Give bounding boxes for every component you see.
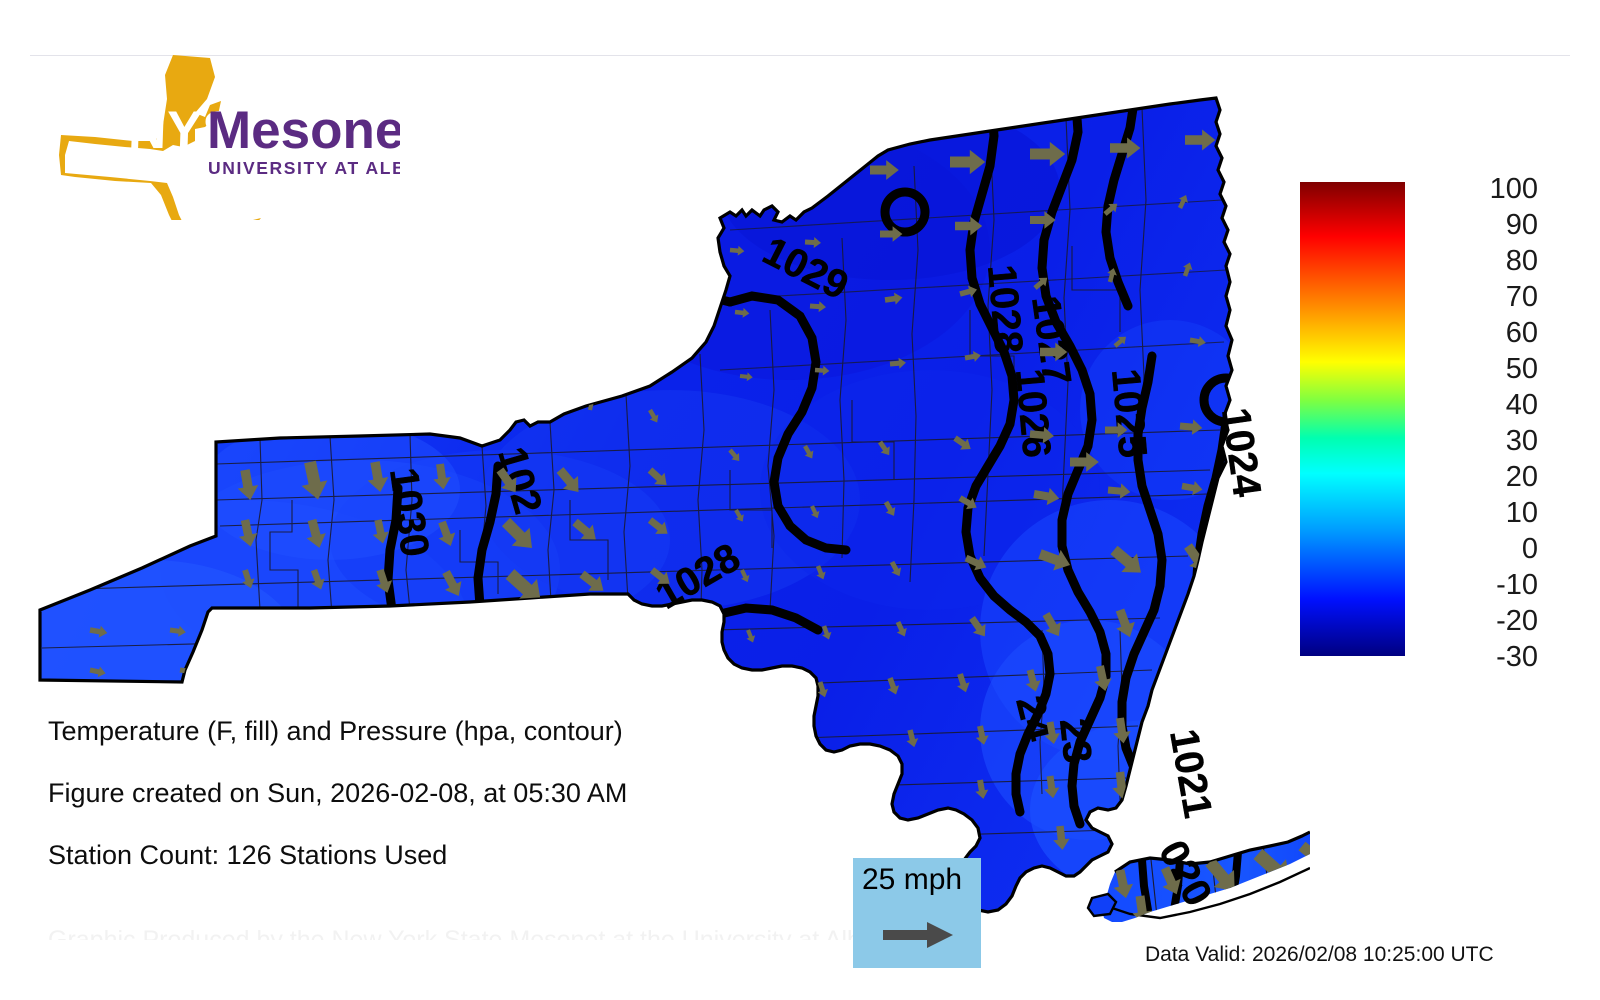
contour-label-1028-ne: 1028 [979,263,1031,355]
colorbar-tick-neg30: -30 [1410,643,1538,672]
contour-label-1025: 1025 [1103,367,1155,459]
contour-label-1024: 1024 [1213,405,1269,500]
wind-key-arrow-icon [883,920,955,950]
contour-label-1021: 1021 [1161,726,1220,821]
wind-key-label: 25 mph [862,865,962,895]
temperature-colorbar: 100 90 80 70 60 50 40 30 20 10 0 -10 -20… [1300,175,1590,665]
colorbar-tick-100: 100 [1410,175,1538,204]
colorbar-tick-20: 20 [1410,463,1538,492]
contour-label-1026: 1026 [1007,367,1059,459]
colorbar-gradient [1300,182,1405,656]
colorbar-ticks: 100 90 80 70 60 50 40 30 20 10 0 -10 -20… [1410,175,1580,665]
colorbar-tick-0: 0 [1410,535,1538,564]
caption-station-count: Station Count: 126 Stations Used [48,842,848,869]
figure-caption: Temperature (F, fill) and Pressure (hpa,… [48,718,848,904]
colorbar-tick-70: 70 [1410,283,1538,312]
figure-canvas: NYS Mesonet UNIVERSITY AT ALBANY [0,0,1600,1000]
colorbar-tick-60: 60 [1410,319,1538,348]
colorbar-tick-neg20: -20 [1410,607,1538,636]
colorbar-tick-80: 80 [1410,247,1538,276]
contour-1030-closed [364,644,416,696]
contour-label-1023: 23 [1051,716,1099,765]
colorbar-tick-50: 50 [1410,355,1538,384]
colorbar-tick-10: 10 [1410,499,1538,528]
caption-created: Figure created on Sun, 2026-02-08, at 05… [48,780,848,807]
wind-speed-key: 25 mph [853,858,981,968]
caption-title: Temperature (F, fill) and Pressure (hpa,… [48,718,848,745]
colorbar-tick-neg10: -10 [1410,571,1538,600]
colorbar-tick-90: 90 [1410,211,1538,240]
data-valid-timestamp: Data Valid: 2026/02/08 10:25:00 UTC [1145,944,1494,965]
colorbar-tick-30: 30 [1410,427,1538,456]
colorbar-tick-40: 40 [1410,391,1538,420]
